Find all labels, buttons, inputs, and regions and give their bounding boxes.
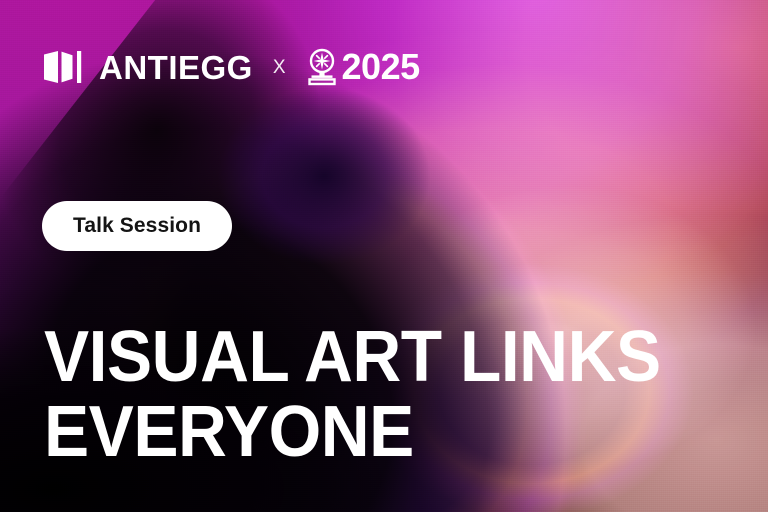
headline: VISUAL ART LINKS EVERYONE bbox=[44, 320, 734, 470]
antiegg-wordmark: ANTIEGG bbox=[99, 51, 253, 84]
crystal-ball-sparkle-icon bbox=[306, 48, 338, 86]
headline-line-2: EVERYONE bbox=[44, 395, 693, 470]
poster-content: ANTIEGG X 2025 Talk Session bbox=[0, 0, 768, 512]
book-pages-icon bbox=[42, 50, 86, 84]
talk-session-badge[interactable]: Talk Session bbox=[42, 201, 232, 251]
promo-poster: ANTIEGG X 2025 Talk Session bbox=[0, 0, 768, 512]
collab-separator: X bbox=[273, 58, 286, 77]
partner-lockup[interactable]: 2025 bbox=[306, 48, 420, 86]
logo-lockup: ANTIEGG X 2025 bbox=[42, 44, 420, 90]
partner-year-label: 2025 bbox=[342, 49, 420, 85]
antiegg-brand[interactable]: ANTIEGG bbox=[42, 50, 253, 84]
headline-line-1: VISUAL ART LINKS bbox=[44, 320, 693, 395]
